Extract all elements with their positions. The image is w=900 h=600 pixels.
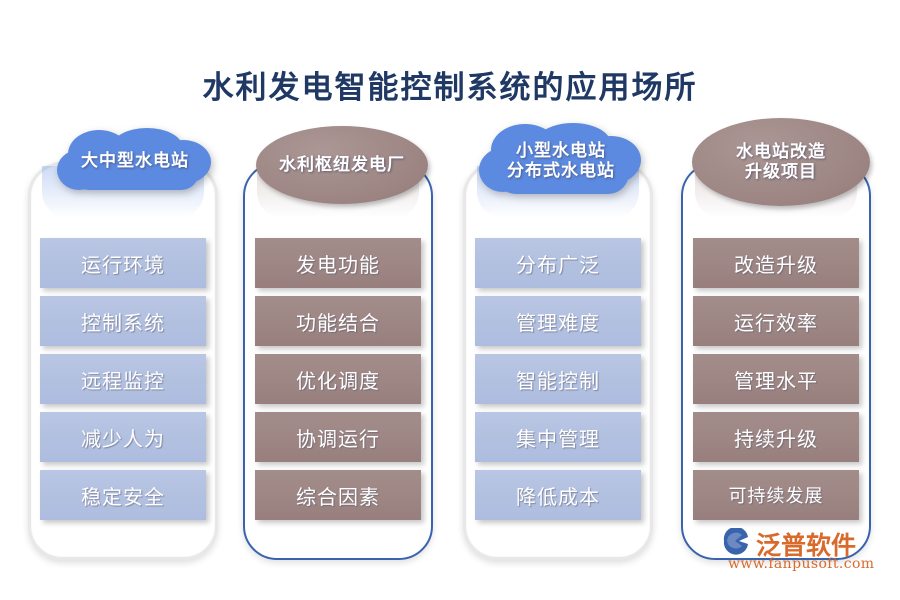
column-group-2: 发电功能 功能结合 优化调度 协调运行 综合因素 (243, 162, 433, 560)
list-item[interactable]: 集中管理 (475, 412, 641, 462)
list-item[interactable]: 优化调度 (255, 354, 421, 404)
column-group-3: 分布广泛 管理难度 智能控制 集中管理 降低成本 (463, 162, 653, 560)
slide-canvas: 水利发电智能控制系统的应用场所 运行环境 控制系统 远程监控 减少人为 稳定安全… (0, 0, 900, 600)
list-item[interactable]: 管理难度 (475, 296, 641, 346)
list-item[interactable]: 综合因素 (255, 470, 421, 520)
item-list-3: 分布广泛 管理难度 智能控制 集中管理 降低成本 (475, 238, 641, 520)
list-item[interactable]: 控制系统 (40, 296, 206, 346)
column-header-label: 小型水电站 分布式水电站 (507, 141, 615, 181)
fanpu-logo-icon (722, 528, 752, 555)
page-title: 水利发电智能控制系统的应用场所 (0, 62, 900, 107)
list-item[interactable]: 改造升级 (693, 238, 859, 288)
column-header-cloud-3[interactable]: 小型水电站 分布式水电站 (477, 122, 645, 200)
list-item[interactable]: 智能控制 (475, 354, 641, 404)
column-header-label: 水电站改造 升级项目 (736, 142, 826, 182)
list-item[interactable]: 协调运行 (255, 412, 421, 462)
item-list-2: 发电功能 功能结合 优化调度 协调运行 综合因素 (255, 238, 421, 520)
list-item[interactable]: 持续升级 (693, 412, 859, 462)
list-item[interactable]: 运行环境 (40, 238, 206, 288)
list-item[interactable]: 运行效率 (693, 296, 859, 346)
brand-url: www.fanpusoft.com (728, 556, 874, 572)
list-item[interactable]: 远程监控 (40, 354, 206, 404)
item-list-1: 运行环境 控制系统 远程监控 减少人为 稳定安全 (40, 238, 206, 520)
list-item[interactable]: 减少人为 (40, 412, 206, 462)
column-header-cloud-1[interactable]: 大中型水电站 (55, 128, 215, 194)
column-group-4: 改造升级 运行效率 管理水平 持续升级 可持续发展 (681, 162, 871, 560)
brand-logo: 泛普软件 www.fanpusoft.com (722, 526, 882, 578)
list-item[interactable]: 降低成本 (475, 470, 641, 520)
column-group-1: 运行环境 控制系统 远程监控 减少人为 稳定安全 (28, 162, 218, 560)
column-header-ellipse-4[interactable]: 水电站改造 升级项目 (692, 118, 870, 206)
list-item[interactable]: 可持续发展 (693, 470, 859, 520)
item-list-4: 改造升级 运行效率 管理水平 持续升级 可持续发展 (693, 238, 859, 520)
list-item[interactable]: 功能结合 (255, 296, 421, 346)
column-header-label: 水利枢纽发电厂 (279, 155, 405, 175)
column-header-ellipse-2[interactable]: 水利枢纽发电厂 (256, 126, 428, 204)
column-header-label: 大中型水电站 (81, 151, 189, 171)
list-item[interactable]: 发电功能 (255, 238, 421, 288)
list-item[interactable]: 管理水平 (693, 354, 859, 404)
list-item[interactable]: 稳定安全 (40, 470, 206, 520)
list-item[interactable]: 分布广泛 (475, 238, 641, 288)
